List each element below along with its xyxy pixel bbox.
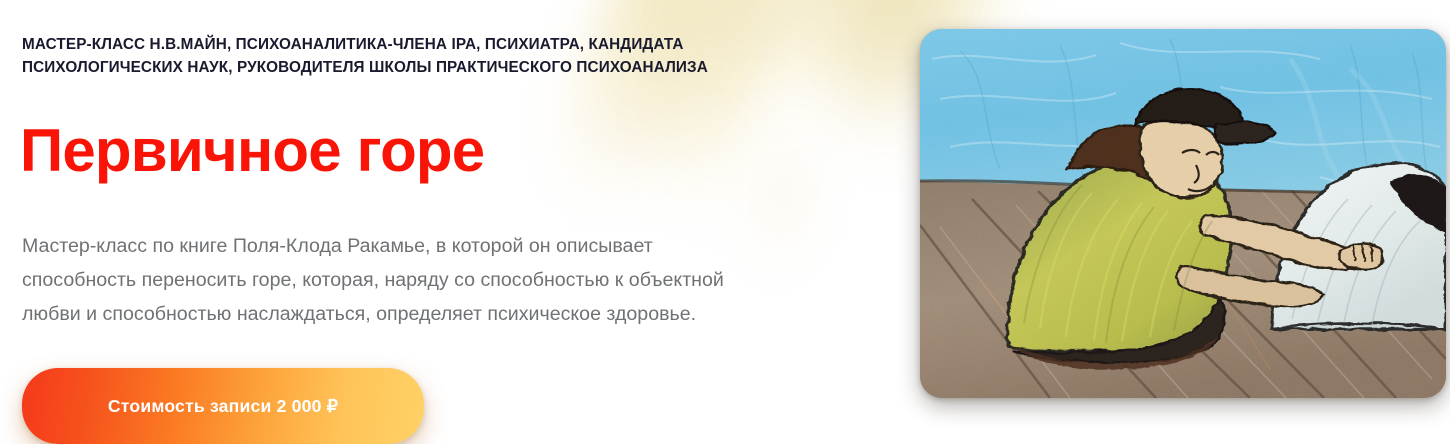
hero-description-line-3: любви и способностью наслаждаться, опред… bbox=[22, 297, 872, 331]
hero-artwork bbox=[920, 29, 1446, 398]
hero-eyebrow: МАСТЕР-КЛАСС Н.В.МАЙН, ПСИХОАНАЛИТИКА-ЧЛ… bbox=[22, 33, 768, 79]
hero-description-line-2: способность переносить горе, которая, на… bbox=[22, 263, 872, 297]
hero-description: Мастер-класс по книге Поля-Клода Ракамье… bbox=[22, 229, 872, 331]
hero-eyebrow-line-1: МАСТЕР-КЛАСС Н.В.МАЙН, ПСИХОАНАЛИТИКА-ЧЛ… bbox=[22, 33, 768, 56]
hero-description-line-1: Мастер-класс по книге Поля-Клода Ракамье… bbox=[22, 229, 872, 263]
buy-recording-button[interactable]: Стоимость записи 2 000 ₽ bbox=[22, 368, 424, 444]
hero-eyebrow-line-2: ПСИХОЛОГИЧЕСКИХ НАУК, РУКОВОДИТЕЛЯ ШКОЛЫ… bbox=[22, 56, 768, 79]
page-title: Первичное горе bbox=[20, 119, 484, 183]
painting-two-people-embracing bbox=[920, 29, 1446, 398]
